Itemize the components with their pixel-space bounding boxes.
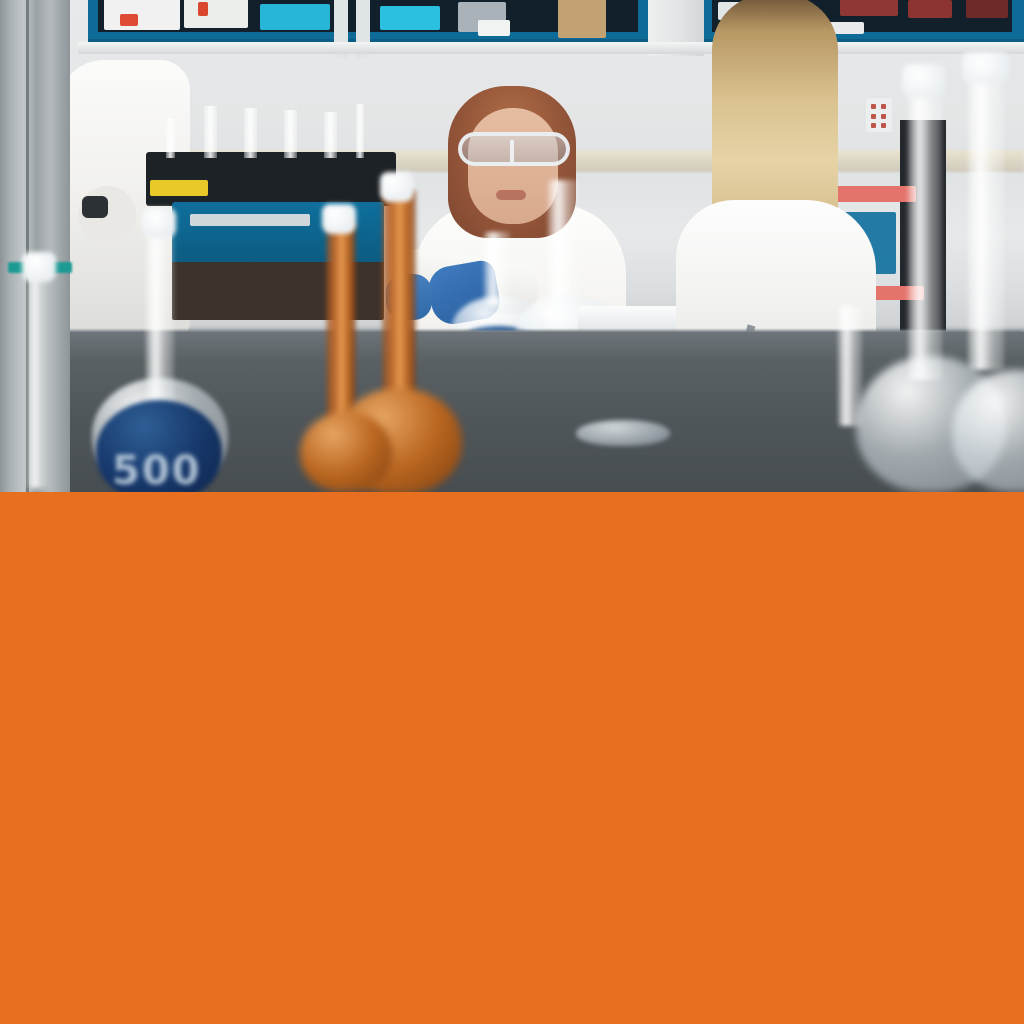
amber-flask-neck (326, 222, 356, 436)
supply-box (380, 6, 440, 30)
scientist-face (468, 108, 558, 224)
amber-volumetric-flask (300, 412, 392, 492)
sample-tube (324, 112, 337, 158)
flask-neck (908, 90, 942, 380)
amber-flask-stopper (380, 172, 414, 202)
supply-box (198, 2, 208, 16)
supply-box (184, 0, 248, 28)
safety-goggles-icon (458, 132, 570, 166)
flask-stopper (962, 52, 1010, 84)
sample-tube (284, 110, 297, 158)
supply-box (260, 4, 330, 30)
instrument-display (190, 214, 310, 226)
lab-photo: 500 (0, 0, 1024, 492)
flask-neck (968, 74, 1004, 370)
flask-stopper (902, 64, 946, 98)
flask-neck (484, 232, 510, 306)
supply-box (908, 0, 952, 18)
flask-volume-label: 500 (112, 448, 202, 492)
rack-label (150, 180, 208, 196)
headline-line-1: THERE IS A FINE LINE (72, 1016, 909, 1024)
orange-text-panel: THERE IS A FINE LINE BETWEEN PASSION AND… (0, 492, 1024, 1024)
supply-box (966, 0, 1008, 18)
sample-tube (204, 106, 217, 158)
pipette-bulb (22, 252, 56, 282)
pipette (28, 272, 48, 488)
supply-box (478, 20, 510, 36)
sample-tube (244, 108, 257, 158)
supply-box (840, 0, 898, 16)
shelf-lip (78, 42, 1024, 54)
sample-tube (166, 118, 175, 158)
amber-flask-stopper (322, 204, 356, 234)
sample-tube (356, 104, 364, 158)
background-scientist-left-hand (82, 196, 108, 218)
supply-box (558, 0, 606, 38)
supply-box (120, 14, 138, 26)
petri-dish (576, 420, 670, 446)
supply-box (104, 0, 180, 30)
sample-rack (146, 152, 396, 206)
flask-stopper (142, 208, 176, 238)
scientist-mouth (496, 190, 526, 200)
flask-neck (838, 306, 862, 426)
headline: THERE IS A FINE LINE BETWEEN PASSION AND… (72, 1016, 909, 1024)
wall-outlet-icon (866, 98, 892, 132)
shelf-divider-red (832, 186, 916, 202)
social-graphic: 500 THERE IS A FINE LINE BETWEEN PASSION… (0, 0, 1024, 1024)
